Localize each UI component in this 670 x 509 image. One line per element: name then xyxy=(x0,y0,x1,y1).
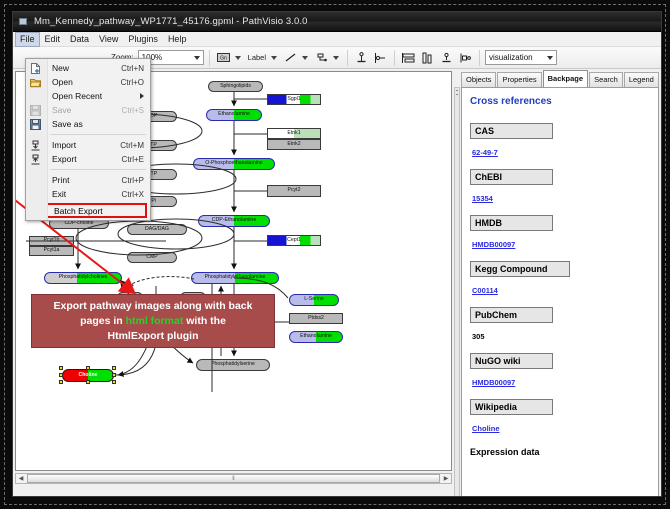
menu-label: Batch Export xyxy=(54,206,103,216)
annotation-callout: Export pathway images along with back pa… xyxy=(31,294,275,348)
menu-label: Import xyxy=(52,140,76,150)
selection-handle-n[interactable] xyxy=(86,366,90,370)
toolbar-separator xyxy=(347,50,348,66)
menu-label: Open xyxy=(52,77,73,87)
menu-label: Print xyxy=(52,175,69,185)
stack-icon[interactable] xyxy=(438,49,455,66)
menu-accelerator: Ctrl+O xyxy=(121,78,150,87)
tab-search[interactable]: Search xyxy=(589,72,623,87)
menu-bar[interactable]: File Edit Data View Plugins Help xyxy=(13,32,661,47)
align-left-icon[interactable] xyxy=(372,49,389,66)
menu-accelerator: Ctrl+N xyxy=(121,64,150,73)
label-button[interactable]: Label xyxy=(246,53,268,62)
menu-item-import[interactable]: Import Ctrl+M xyxy=(26,138,150,152)
line-icon[interactable] xyxy=(282,49,299,66)
pathvisio-application-window: Mm_Kennedy_pathway_WP1771_45176.gpml - P… xyxy=(12,11,662,497)
chevron-down-icon xyxy=(547,56,553,60)
annotation-line-2a: pages in xyxy=(80,315,126,327)
menu-item-plugins[interactable]: Plugins xyxy=(123,32,163,47)
annotation-line-3: HtmlExport plugin xyxy=(108,330,199,342)
xref-source-pubchem: PubChem xyxy=(470,307,553,323)
menu-accelerator: Ctrl+P xyxy=(122,176,150,185)
datanode-icon[interactable]: Gn xyxy=(215,49,232,66)
chevron-down-icon[interactable] xyxy=(271,56,277,60)
selection-handle-ne[interactable] xyxy=(112,366,116,370)
tab-objects[interactable]: Objects xyxy=(461,72,496,87)
save-as-icon xyxy=(30,119,41,130)
xref-value-nugo-wiki[interactable]: HMDB00097 xyxy=(470,378,515,387)
xref-source-wikipedia: Wikipedia xyxy=(470,399,553,415)
new-file-icon xyxy=(30,63,41,74)
annotation-text: Export pathway images along with back pa… xyxy=(54,299,253,344)
tab-properties[interactable]: Properties xyxy=(497,72,541,87)
annotation-line-1: Export pathway images along with back xyxy=(54,300,253,312)
menu-separator xyxy=(50,169,146,170)
annotation-line-2c: with the xyxy=(183,315,226,327)
window-titlebar: Mm_Kennedy_pathway_WP1771_45176.gpml - P… xyxy=(13,12,661,32)
menu-separator xyxy=(50,134,146,135)
selection-handle-w[interactable] xyxy=(59,373,63,377)
menu-label: Open Recent xyxy=(52,91,102,101)
menu-item-save-as[interactable]: Save as xyxy=(26,117,150,131)
annotation-highlight: html format xyxy=(126,315,184,327)
selection-handle-e[interactable] xyxy=(112,373,116,377)
export-icon xyxy=(30,154,41,165)
menu-item-new[interactable]: New Ctrl+N xyxy=(26,61,150,75)
xref-value-kegg-compound[interactable]: C00114 xyxy=(470,286,498,295)
menu-label: Exit xyxy=(52,189,66,199)
chevron-down-icon[interactable] xyxy=(302,56,308,60)
menu-label: Save xyxy=(52,105,71,115)
xref-source-hmdb: HMDB xyxy=(470,215,553,231)
import-icon xyxy=(30,140,41,151)
xref-value-chebi[interactable]: 15354 xyxy=(470,194,493,203)
open-folder-icon xyxy=(30,77,41,88)
xref-value-wikipedia[interactable]: Choline xyxy=(470,424,500,433)
menu-label: Export xyxy=(52,154,77,164)
node-label: Choline xyxy=(78,373,97,378)
submenu-arrow-icon xyxy=(140,93,150,99)
menu-item-edit[interactable]: Edit xyxy=(40,32,66,47)
xref-source-cas: CAS xyxy=(470,123,553,139)
panel-drag-handle[interactable] xyxy=(454,87,460,497)
tab-backpage[interactable]: Backpage xyxy=(543,70,588,87)
canvas-horizontal-scrollbar[interactable]: ◀ ‖ ▶ xyxy=(15,473,452,484)
xref-value-hmdb[interactable]: HMDB00097 xyxy=(470,240,515,249)
menu-label: Save as xyxy=(52,119,83,129)
scrollbar-thumb[interactable]: ‖ xyxy=(27,474,440,483)
tab-legend[interactable]: Legend xyxy=(624,72,659,87)
menu-item-view[interactable]: View xyxy=(94,32,123,47)
menu-item-open[interactable]: Open Ctrl+O xyxy=(26,75,150,89)
interaction-icon[interactable] xyxy=(313,49,330,66)
menu-item-open-recent[interactable]: Open Recent xyxy=(26,89,150,103)
pathvisio-app-icon xyxy=(18,16,29,27)
menu-accelerator: Ctrl+M xyxy=(120,141,150,150)
toolbar-separator xyxy=(394,50,395,66)
menu-item-save: Save Ctrl+S xyxy=(26,103,150,117)
svg-text:Gn: Gn xyxy=(220,56,227,62)
backpage-content: Cross references CAS 62-49-7 ChEBI 15354… xyxy=(461,87,659,497)
window-title: Mm_Kennedy_pathway_WP1771_45176.gpml - P… xyxy=(34,16,308,27)
save-disk-icon xyxy=(30,105,41,116)
side-panel-tabs[interactable]: Objects Properties Backpage Search Legen… xyxy=(454,71,659,87)
menu-accelerator: Ctrl+X xyxy=(122,190,150,199)
menu-item-file[interactable]: File xyxy=(15,32,40,47)
xref-value-pubchem: 305 xyxy=(470,332,485,341)
selection-handle-sw[interactable] xyxy=(59,380,63,384)
chevron-down-icon[interactable] xyxy=(235,56,241,60)
arrowhead xyxy=(120,280,134,292)
visualization-combobox[interactable]: visualization xyxy=(485,50,557,65)
menu-item-exit[interactable]: Exit Ctrl+X xyxy=(26,187,150,201)
toolbar-separator xyxy=(479,50,480,66)
menu-item-print[interactable]: Print Ctrl+P xyxy=(26,173,150,187)
xref-source-chebi: ChEBI xyxy=(470,169,553,185)
xref-value-cas[interactable]: 62-49-7 xyxy=(470,148,498,157)
align-center-icon[interactable] xyxy=(400,49,417,66)
menu-accelerator: Ctrl+E xyxy=(122,155,150,164)
menu-accelerator: Ctrl+S xyxy=(122,106,150,115)
anchor-icon[interactable] xyxy=(353,49,370,66)
align-middle-icon[interactable] xyxy=(419,49,436,66)
scroll-right-arrow-icon[interactable]: ▶ xyxy=(441,475,451,482)
group-icon[interactable] xyxy=(457,49,474,66)
menu-item-data[interactable]: Data xyxy=(65,32,94,47)
desktop-background: Mm_Kennedy_pathway_WP1771_45176.gpml - P… xyxy=(0,0,670,509)
side-panel: Objects Properties Backpage Search Legen… xyxy=(452,69,662,497)
visualization-value: visualization xyxy=(489,53,533,62)
cross-references-heading: Cross references xyxy=(470,96,650,107)
expression-data-heading: Expression data xyxy=(470,447,650,457)
chevron-down-icon xyxy=(194,56,200,60)
menu-item-help[interactable]: Help xyxy=(163,32,192,47)
file-menu-dropdown[interactable]: New Ctrl+N Open Ctrl+O Open Recent Save xyxy=(25,58,151,221)
chevron-down-icon[interactable] xyxy=(333,56,339,60)
selection-handle-s[interactable] xyxy=(86,380,90,384)
selection-handle-nw[interactable] xyxy=(59,366,63,370)
toolbar-separator xyxy=(209,50,210,66)
scroll-left-arrow-icon[interactable]: ◀ xyxy=(16,475,26,482)
menu-label: New xyxy=(52,63,69,73)
xref-source-kegg-compound: Kegg Compound xyxy=(470,261,570,277)
selection-handle-se[interactable] xyxy=(112,380,116,384)
menu-item-export[interactable]: Export Ctrl+E xyxy=(26,152,150,166)
xref-source-nugo-wiki: NuGO wiki xyxy=(470,353,553,369)
